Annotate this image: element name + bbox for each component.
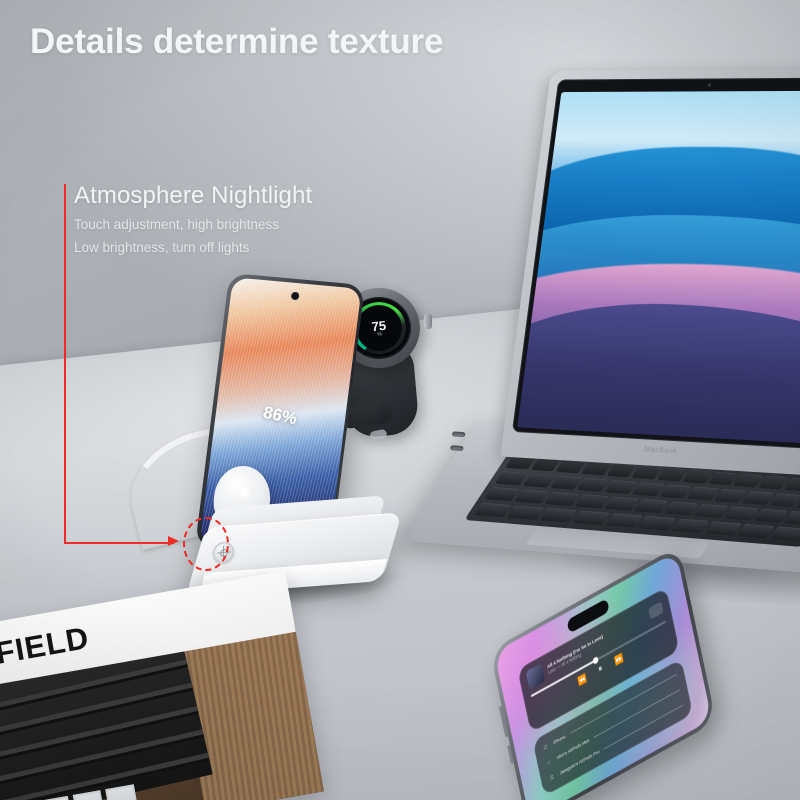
vignette-overlay [0, 0, 800, 800]
page-title: Details determine texture [30, 22, 443, 62]
dashed-circle-highlight [183, 517, 229, 571]
product-marketing-image: MacBook 75 % 86% [0, 0, 800, 800]
annotation-horizontal-line [64, 542, 174, 544]
callout-line-2: Low brightness, turn off lights [74, 239, 404, 256]
arrow-right-icon [168, 536, 179, 546]
callout-title: Atmosphere Nightlight [74, 182, 404, 210]
annotation-vertical-line [64, 184, 66, 544]
callout-line-1: Touch adjustment, high brightness [74, 216, 404, 233]
feature-callout: Atmosphere Nightlight Touch adjustment, … [74, 182, 404, 256]
